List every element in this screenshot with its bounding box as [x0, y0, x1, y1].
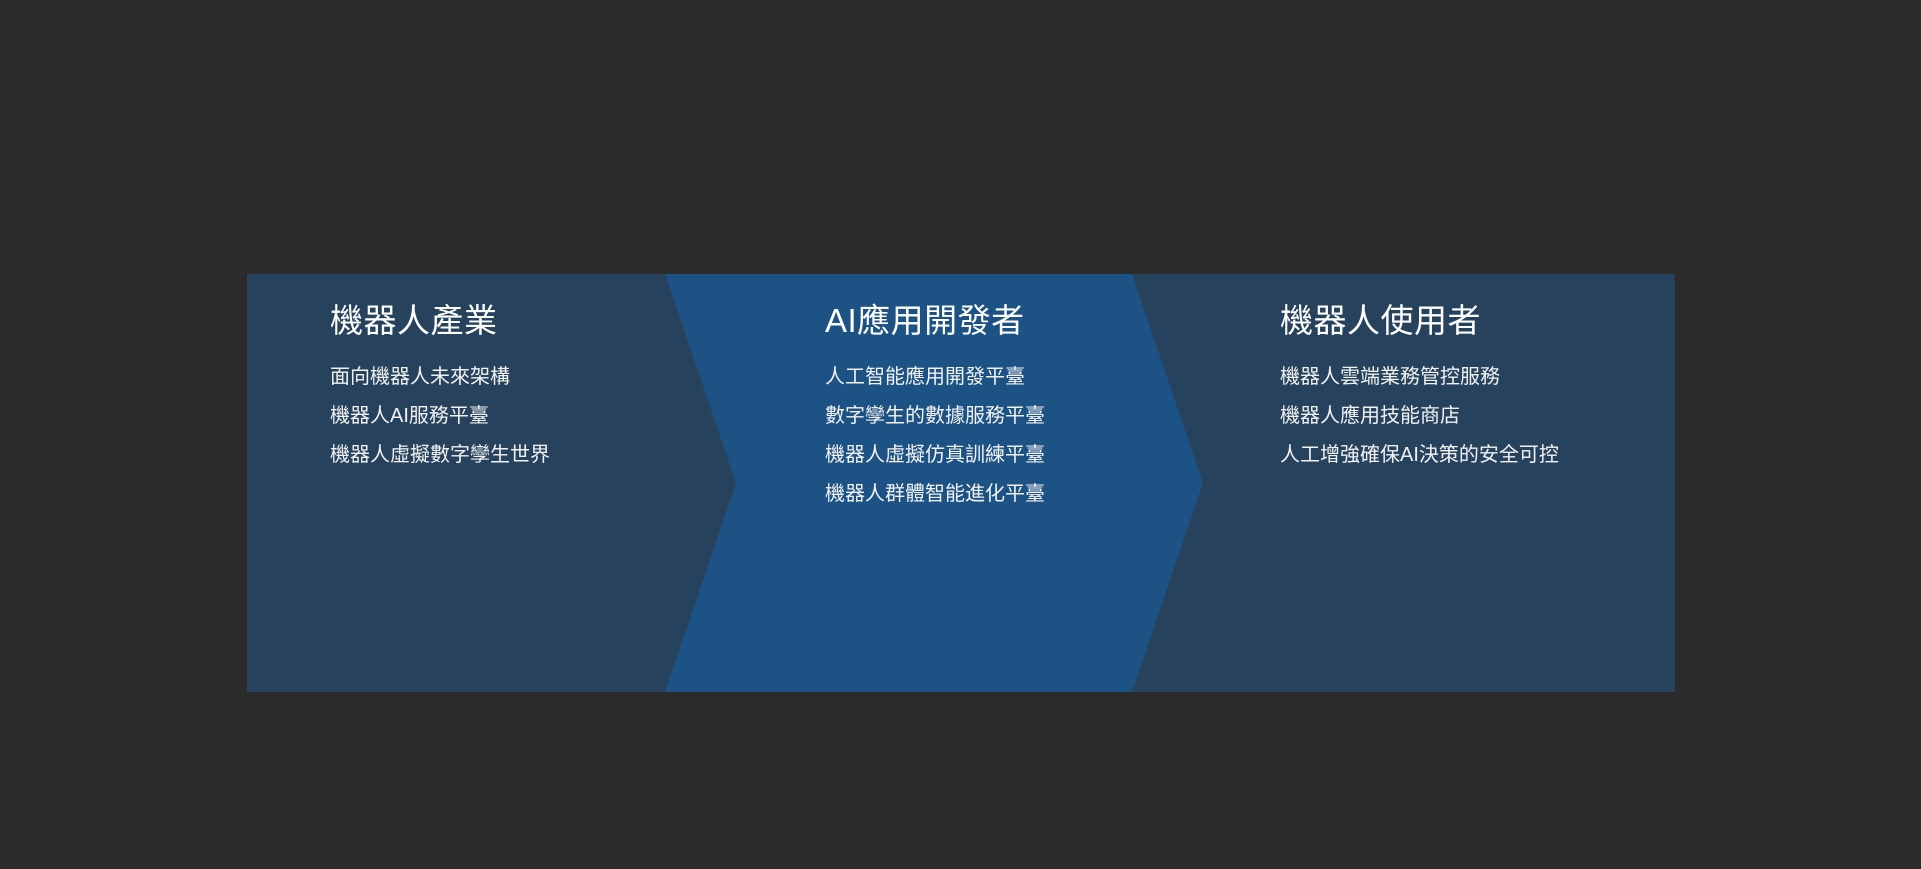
column-title: AI應用開發者	[825, 304, 1025, 337]
list-item: 機器人AI服務平臺	[330, 397, 550, 436]
column-item-list: 人工智能應用開發平臺 數字孿生的數據服務平臺 機器人虛擬仿真訓練平臺 機器人群體…	[825, 358, 1045, 514]
column-title: 機器人產業	[330, 304, 498, 337]
list-item: 人工增強確保AI決策的安全可控	[1280, 436, 1559, 475]
list-item: 數字孿生的數據服務平臺	[825, 397, 1045, 436]
column-item-list: 面向機器人未來架構 機器人AI服務平臺 機器人虛擬數字孿生世界	[330, 358, 550, 475]
column-item-list: 機器人雲端業務管控服務 機器人應用技能商店 人工增強確保AI決策的安全可控	[1280, 358, 1559, 475]
list-item: 機器人應用技能商店	[1280, 397, 1559, 436]
list-item: 人工智能應用開發平臺	[825, 358, 1045, 397]
list-item: 機器人雲端業務管控服務	[1280, 358, 1559, 397]
column-title: 機器人使用者	[1280, 304, 1481, 337]
list-item: 面向機器人未來架構	[330, 358, 550, 397]
list-item: 機器人群體智能進化平臺	[825, 475, 1045, 514]
chevron-banner: 機器人產業 面向機器人未來架構 機器人AI服務平臺 機器人虛擬數字孿生世界 AI…	[247, 274, 1675, 692]
list-item: 機器人虛擬數字孿生世界	[330, 436, 550, 475]
list-item: 機器人虛擬仿真訓練平臺	[825, 436, 1045, 475]
